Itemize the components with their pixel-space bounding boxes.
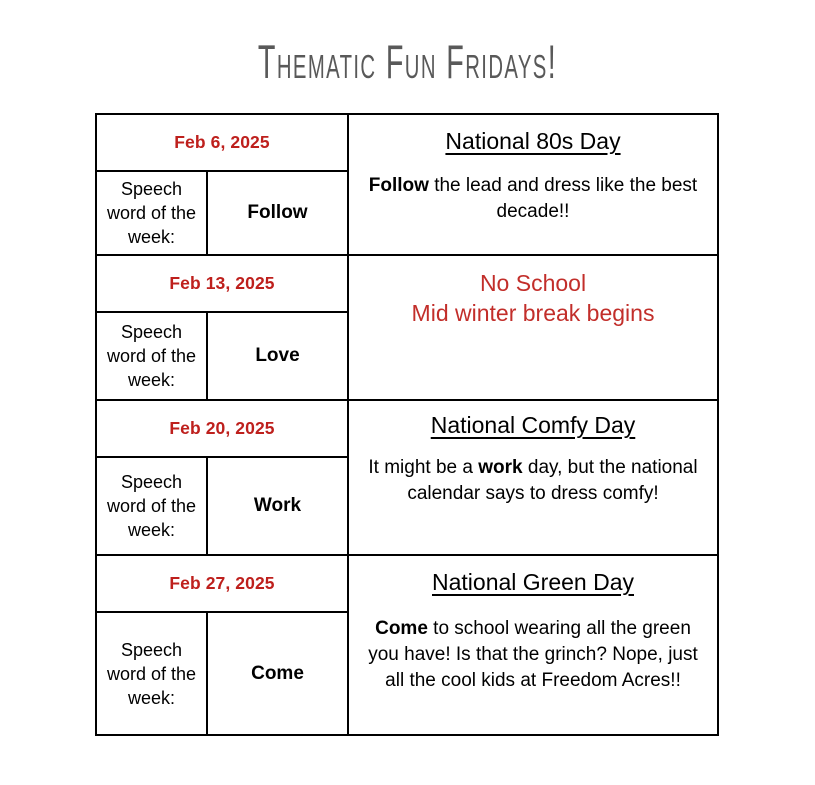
word-row: Speech word of the week: Come (97, 613, 347, 734)
speech-word-label: Speech word of the week: (97, 613, 208, 734)
date-cell: Feb 6, 2025 (97, 115, 347, 172)
speech-word-value: Come (208, 613, 347, 734)
speech-word-value: Love (208, 313, 347, 399)
speech-word-label: Speech word of the week: (97, 172, 208, 254)
week-left-column: Feb 6, 2025 Speech word of the week: Fol… (97, 115, 349, 254)
event-body: Come to school wearing all the green you… (359, 616, 707, 694)
week-right-column: No School Mid winter break begins (349, 256, 717, 399)
date-cell: Feb 20, 2025 (97, 401, 347, 458)
week-left-column: Feb 20, 2025 Speech word of the week: Wo… (97, 401, 349, 554)
date-cell: Feb 27, 2025 (97, 556, 347, 613)
event-body-bold-word: work (478, 457, 522, 478)
event-heading: National 80s Day (445, 127, 620, 155)
event-body: Follow the lead and dress like the best … (363, 173, 703, 225)
event-body: It might be a work day, but the national… (368, 455, 698, 507)
event-body-text: the lead and dress like the best decade!… (429, 175, 697, 222)
week-left-column: Feb 13, 2025 Speech word of the week: Lo… (97, 256, 349, 399)
week-right-column: National Comfy Day It might be a work da… (349, 401, 717, 554)
event-heading: National Comfy Day (431, 411, 636, 439)
week-right-column: National Green Day Come to school wearin… (349, 556, 717, 734)
date-cell: Feb 13, 2025 (97, 256, 347, 313)
event-body-bold-word: Come (375, 618, 428, 639)
page-title: Thematic Fun Fridays! (122, 34, 693, 90)
speech-word-label: Speech word of the week: (97, 313, 208, 399)
event-body-bold-word: Follow (369, 175, 429, 196)
week-block: Feb 6, 2025 Speech word of the week: Fol… (97, 115, 717, 256)
week-left-column: Feb 27, 2025 Speech word of the week: Co… (97, 556, 349, 734)
speech-word-value: Work (208, 458, 347, 554)
word-row: Speech word of the week: Love (97, 313, 347, 399)
speech-word-label: Speech word of the week: (97, 458, 208, 554)
word-row: Speech word of the week: Follow (97, 172, 347, 254)
event-heading: National Green Day (432, 568, 634, 596)
week-right-column: National 80s Day Follow the lead and dre… (349, 115, 717, 254)
notice-line-2: Mid winter break begins (412, 298, 655, 328)
word-row: Speech word of the week: Work (97, 458, 347, 554)
week-block: Feb 27, 2025 Speech word of the week: Co… (97, 556, 717, 734)
schedule-table: Feb 6, 2025 Speech word of the week: Fol… (95, 113, 719, 736)
notice-line-1: No School (480, 268, 586, 298)
week-block: Feb 13, 2025 Speech word of the week: Lo… (97, 256, 717, 401)
speech-word-value: Follow (208, 172, 347, 254)
event-body-text-pre: It might be a (368, 457, 478, 478)
week-block: Feb 20, 2025 Speech word of the week: Wo… (97, 401, 717, 556)
